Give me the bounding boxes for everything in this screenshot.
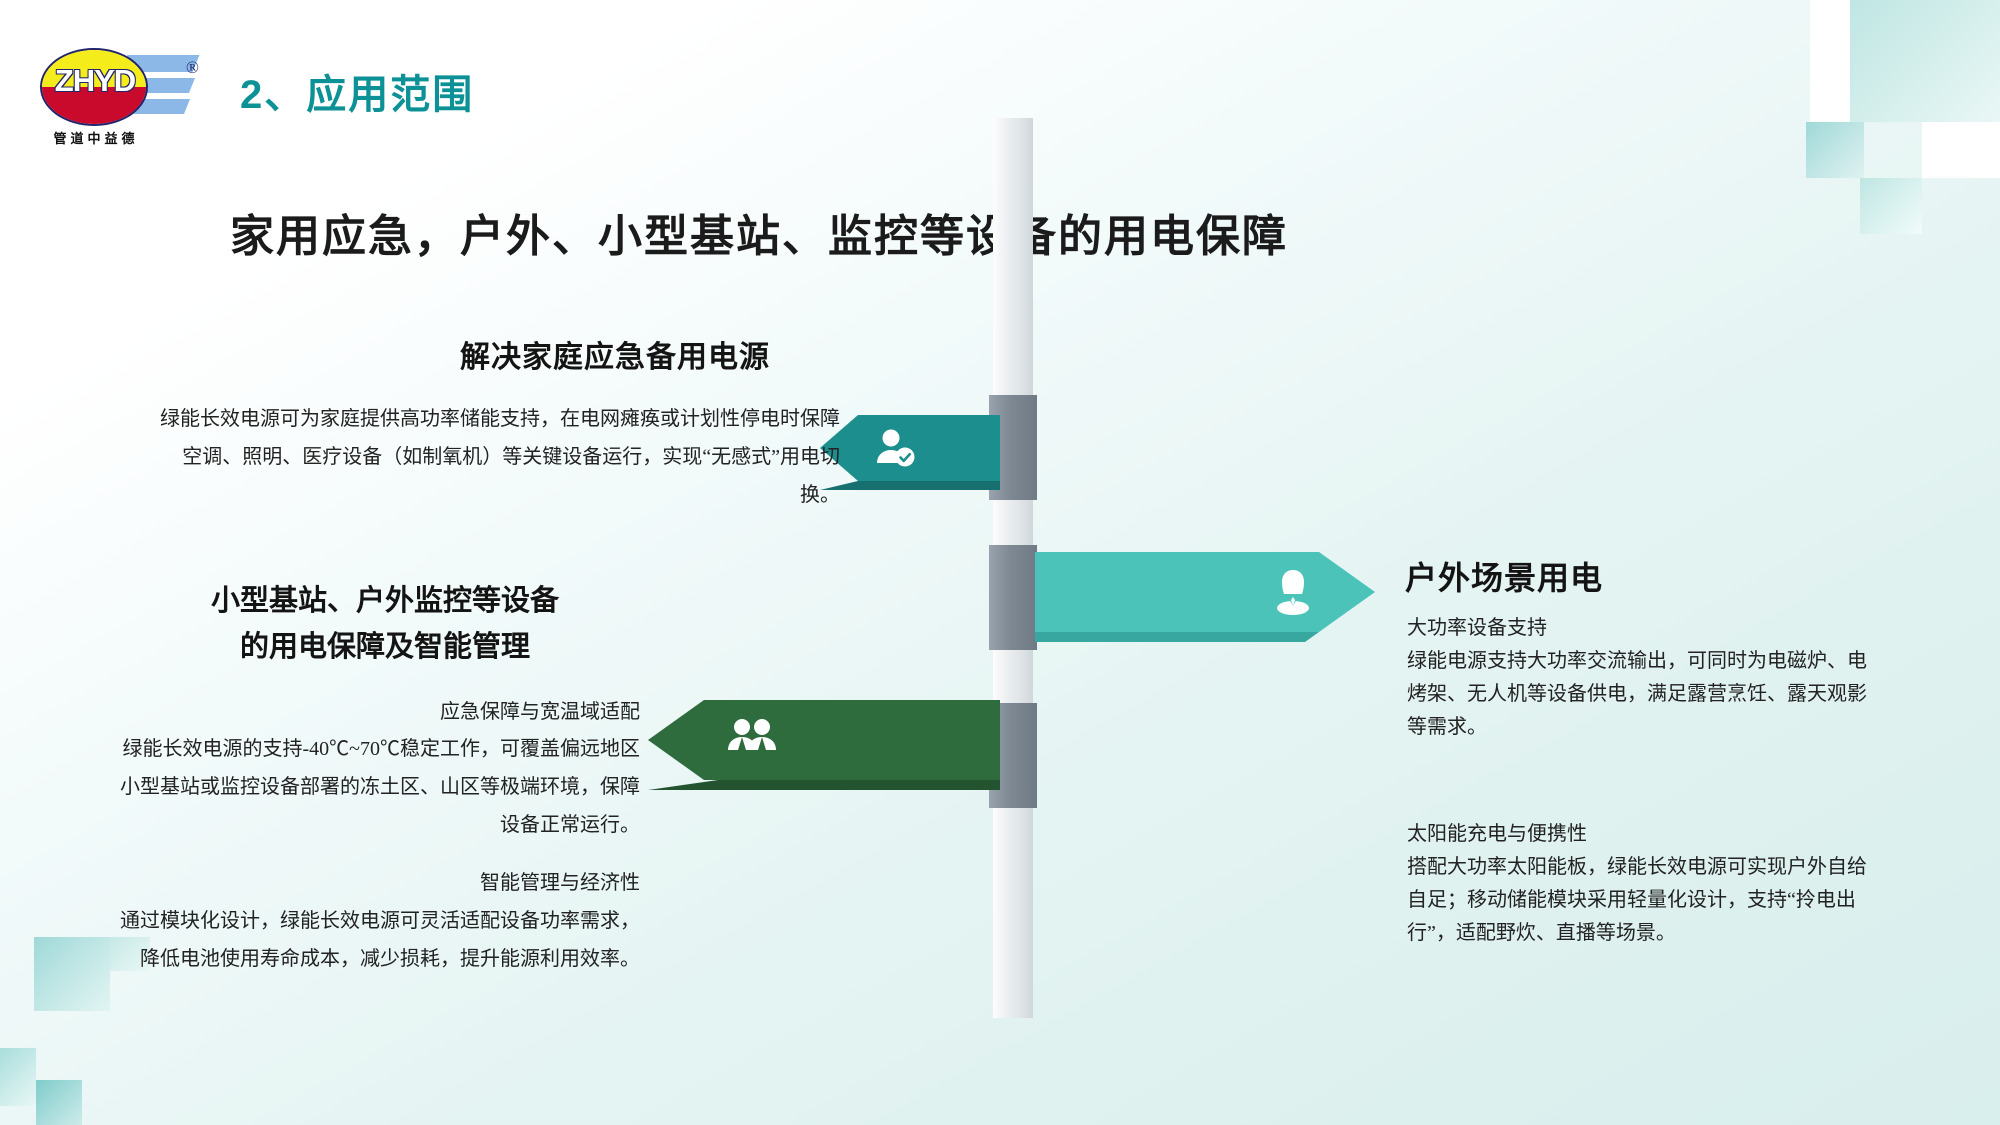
subheading-solar: 太阳能充电与便携性 [1407,823,1587,845]
registered-trademark-icon: ® [186,58,199,78]
arrow-shadow [648,780,1000,790]
subheading-high-power: 大功率设备支持 [1407,617,1547,639]
subheading-emergency-temp: 应急保障与宽温域适配 [150,695,640,724]
arrow-body [1035,552,1375,632]
section-heading: 2、应用范围 [240,62,474,120]
paragraph-home-backup: 绿能长效电源可为家庭提供高功率储能支持，在电网瘫痪或计划性停电时保障空调、照明、… [150,400,840,514]
slide-canvas: ZHYD ® 管道中益德 2、应用范围 家用应急，户外、小型基站、监控等设备的用… [0,0,2000,1125]
decor-square-bottom-left-3 [0,1048,36,1106]
paragraph-emergency-temp: 绿能长效电源的支持-40℃~70℃稳定工作，可覆盖偏远地区小型基站或监控设备部署… [110,730,640,844]
heading-base-station: 小型基站、户外监控等设备 的用电保障及智能管理 [150,578,620,670]
paragraph-outdoor-power: 大功率设备支持绿能电源支持大功率交流输出，可同时为电磁炉、电烤架、无人机等设备供… [1407,612,1877,744]
paragraph-outdoor-solar: 太阳能充电与便携性搭配大功率太阳能板，绿能长效电源可实现户外自给自足；移动储能模… [1407,818,1877,950]
body-high-power: 绿能电源支持大功率交流输出，可同时为电磁炉、电烤架、无人机等设备供电，满足露营烹… [1407,650,1867,738]
user-check-icon [872,425,918,471]
heading-home-backup: 解决家庭应急备用电源 [460,332,770,376]
signpost-arrow-basestation[interactable] [648,700,1000,780]
two-people-icon [724,716,782,766]
page-title: 家用应急，户外、小型基站、监控等设备的用电保障 [230,200,1288,264]
decor-square-top-right-1 [1850,0,2000,122]
decor-square-top-right-4 [1806,122,1864,178]
logo-chinese-name: 管道中益德 [40,128,152,147]
signpost-arrow-home-backup[interactable] [820,415,1000,481]
decor-square-top-right-2 [1810,0,1850,122]
decor-square-top-right-5 [1860,178,1922,234]
decor-square-top-right-3 [1922,122,2000,178]
heading-outdoor: 户外场景用电 [1405,553,1603,599]
arrow-body [648,700,1000,780]
body-solar: 搭配大功率太阳能板，绿能长效电源可实现户外自给自足；移动储能模块采用轻量化设计，… [1407,856,1867,944]
decor-square-bottom-left-4 [36,1080,82,1125]
arrow-shadow [1035,632,1375,642]
subheading-smart-management: 智能管理与经济性 [150,866,640,895]
person-female-icon [1267,566,1319,618]
logo-wordmark: ZHYD [42,66,148,96]
paragraph-smart-management: 通过模块化设计，绿能长效电源可灵活适配设备功率需求，降低电池使用寿命成本，减少损… [110,902,640,978]
decor-square-bottom-left-1 [34,937,110,1011]
signpost-arrow-outdoor[interactable] [1035,552,1375,632]
arrow-shadow [820,481,1000,490]
signpost-band-2 [989,545,1037,650]
company-logo: ZHYD ® 管道中益德 [40,40,195,135]
